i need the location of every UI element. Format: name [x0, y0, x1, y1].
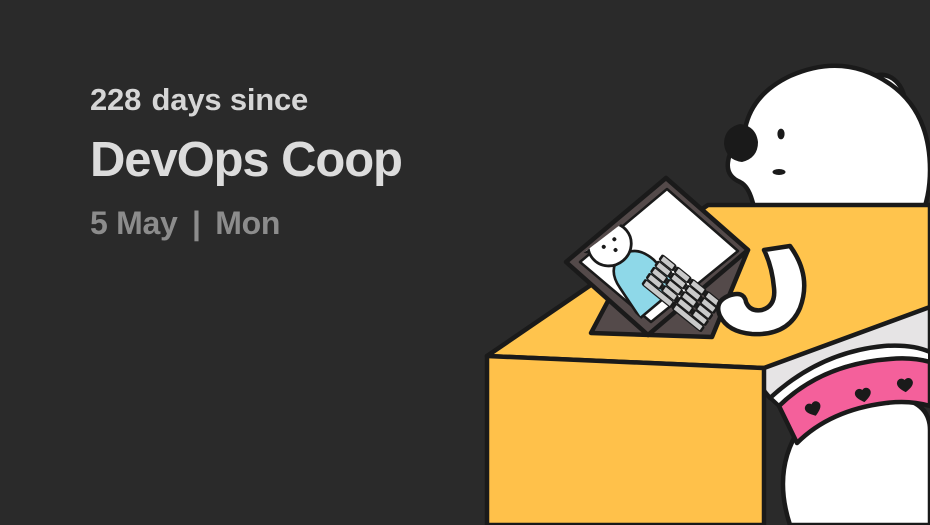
date-separator: |	[192, 205, 201, 241]
date-day-month: 5 May	[90, 205, 177, 241]
days-count: 228	[90, 82, 141, 117]
date-weekday: Mon	[215, 205, 280, 241]
date-line: 5 May | Mon	[90, 207, 402, 239]
days-since-card: 228 days since DevOps Coop 5 May | Mon	[0, 0, 930, 525]
bear-eye	[777, 129, 784, 140]
illustration-polar-bear-at-desk	[0, 0, 930, 525]
days-since-counter-line: 228 days since	[90, 84, 402, 115]
days-since-label: days since	[152, 82, 309, 117]
text-block: 228 days since DevOps Coop 5 May | Mon	[90, 84, 402, 239]
bear-mouth	[773, 169, 786, 175]
event-title: DevOps Coop	[90, 136, 402, 185]
